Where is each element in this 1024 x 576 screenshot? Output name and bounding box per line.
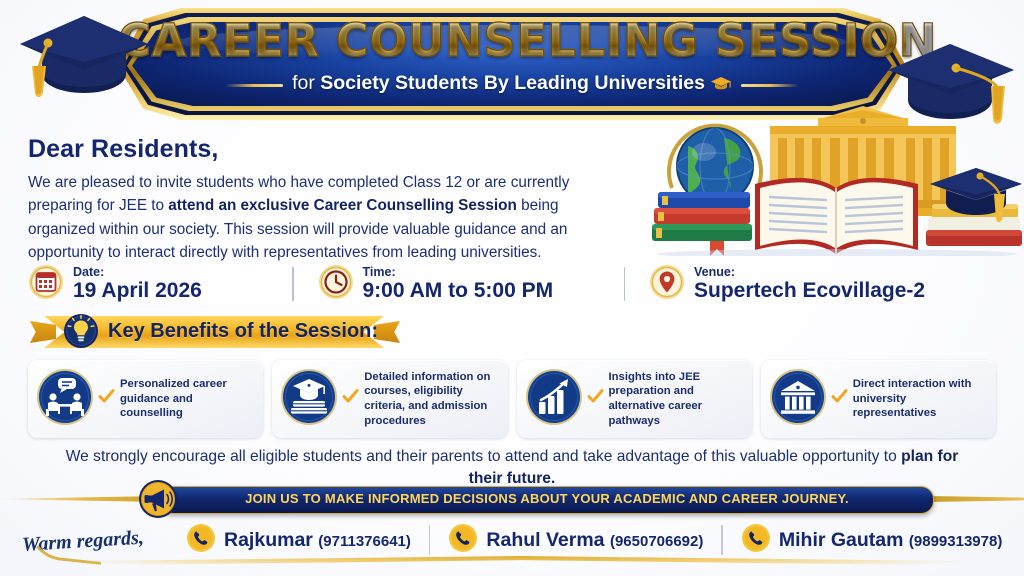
subtitle-bold: Society Students By Leading Universities — [320, 72, 705, 94]
contact-row: Warm regards, Rajkumar (9711376641) Rahu… — [22, 518, 1008, 562]
detail-divider — [292, 267, 294, 301]
subtitle-lead: for — [292, 72, 320, 94]
contact-person-name: Rahul Verma — [486, 529, 604, 551]
ribbon-tail-left — [30, 321, 56, 343]
detail-time-text: Time: 9:00 AM to 5:00 PM — [363, 266, 554, 303]
education-illustration — [650, 104, 1024, 256]
time-value: 9:00 AM to 5:00 PM — [363, 279, 554, 303]
cta-wing-right — [930, 496, 1024, 502]
venue-label: Venue: — [694, 266, 925, 279]
location-pin-icon — [649, 264, 685, 305]
calendar-icon — [28, 264, 64, 305]
cta-pill: JOIN US TO MAKE INFORMED DECISIONS ABOUT… — [160, 486, 934, 514]
page-title: CAREER COUNSELLING SESSION — [118, 18, 906, 63]
detail-venue-text: Venue: Supertech Ecovillage-2 — [694, 266, 925, 303]
benefit-card: Detailed information on courses, eligibi… — [272, 360, 507, 438]
event-details-strip: Date: 19 April 2026 Time: 9:00 AM to 5:0… — [28, 262, 996, 306]
contact-divider — [429, 525, 431, 555]
invitation-paragraph: We are pleased to invite students who ha… — [28, 171, 628, 264]
closing-part-1: We strongly encourage all eligible stude… — [66, 448, 901, 465]
detail-date: Date: 19 April 2026 — [28, 264, 286, 305]
check-icon — [342, 388, 359, 410]
book-stack-left — [652, 192, 752, 256]
benefit-card-text: Direct interaction with university repre… — [853, 377, 988, 421]
benefit-card-text: Personalized career guidance and counsel… — [120, 377, 255, 421]
paragraph-highlight: attend an exclusive Career Counselling S… — [168, 197, 517, 214]
growth-chart-icon — [525, 368, 583, 431]
time-label: Time: — [363, 266, 554, 279]
contact-divider — [721, 525, 723, 555]
benefit-card-text: Insights into JEE preparation and altern… — [609, 370, 744, 429]
subtitle-dash-left — [225, 84, 283, 87]
benefit-card: Insights into JEE preparation and altern… — [517, 360, 752, 438]
contact-person-phone: (9711376641) — [318, 533, 411, 550]
phone-icon — [448, 523, 478, 558]
date-value: 19 April 2026 — [73, 279, 202, 303]
subtitle-row: for Society Students By Leading Universi… — [118, 72, 906, 98]
contact-name: Rajkumar (9711376641) — [224, 529, 411, 552]
benefit-card: Personalized career guidance and counsel… — [28, 360, 263, 438]
benefit-cards: Personalized career guidance and counsel… — [28, 360, 996, 438]
benefit-card-text: Detailed information on courses, eligibi… — [364, 370, 499, 429]
salutation: Dear Residents, — [28, 135, 628, 164]
subtitle-dash-right — [741, 84, 799, 87]
mini-graduation-cap-icon — [710, 75, 732, 98]
check-icon — [98, 388, 115, 410]
cta-text: JOIN US TO MAKE INFORMED DECISIONS ABOUT… — [161, 491, 933, 506]
benefit-card: Direct interaction with university repre… — [761, 360, 996, 438]
flyer-poster: CAREER COUNSELLING SESSION for Society S… — [0, 0, 1024, 576]
phone-icon — [186, 523, 216, 558]
call-to-action-bar: JOIN US TO MAKE INFORMED DECISIONS ABOUT… — [92, 486, 932, 512]
lightbulb-icon — [62, 312, 100, 355]
detail-time: Time: 9:00 AM to 5:00 PM — [318, 264, 618, 305]
check-icon — [831, 388, 848, 410]
date-label: Date: — [73, 266, 202, 279]
open-book-illustration — [755, 178, 918, 254]
graduation-cap-icon — [6, 6, 156, 123]
contact-name: Rahul Verma (9650706692) — [486, 529, 703, 552]
contact-person-name: Rajkumar — [224, 529, 313, 551]
contact-person-phone: (9650706692) — [610, 533, 703, 550]
letter-body: Dear Residents, We are pleased to invite… — [28, 135, 628, 264]
cap-on-books-icon — [280, 368, 338, 431]
page-subtitle: for Society Students By Leading Universi… — [292, 72, 732, 98]
key-benefits-ribbon: Key Benefits of the Session: — [30, 316, 398, 348]
detail-date-text: Date: 19 April 2026 — [73, 266, 202, 303]
detail-venue: Venue: Supertech Ecovillage-2 — [649, 264, 925, 305]
contact-person[interactable]: Rajkumar (9711376641) — [186, 523, 411, 558]
contact-person[interactable]: Mihir Gautam (9899313978) — [741, 523, 1002, 558]
university-building-icon — [769, 368, 827, 431]
key-benefits-title: Key Benefits of the Session: — [108, 320, 378, 343]
phone-icon — [741, 523, 771, 558]
contact-name: Mihir Gautam (9899313978) — [779, 529, 1002, 552]
clock-icon — [318, 264, 354, 305]
contact-person[interactable]: Rahul Verma (9650706692) — [448, 523, 703, 558]
check-icon — [587, 388, 604, 410]
counselling-meeting-icon — [36, 368, 94, 431]
venue-value: Supertech Ecovillage-2 — [694, 279, 925, 303]
closing-paragraph: We strongly encourage all eligible stude… — [60, 446, 964, 490]
contact-person-phone: (9899313978) — [909, 533, 1002, 550]
detail-divider — [624, 267, 626, 301]
contact-person-name: Mihir Gautam — [779, 529, 904, 551]
